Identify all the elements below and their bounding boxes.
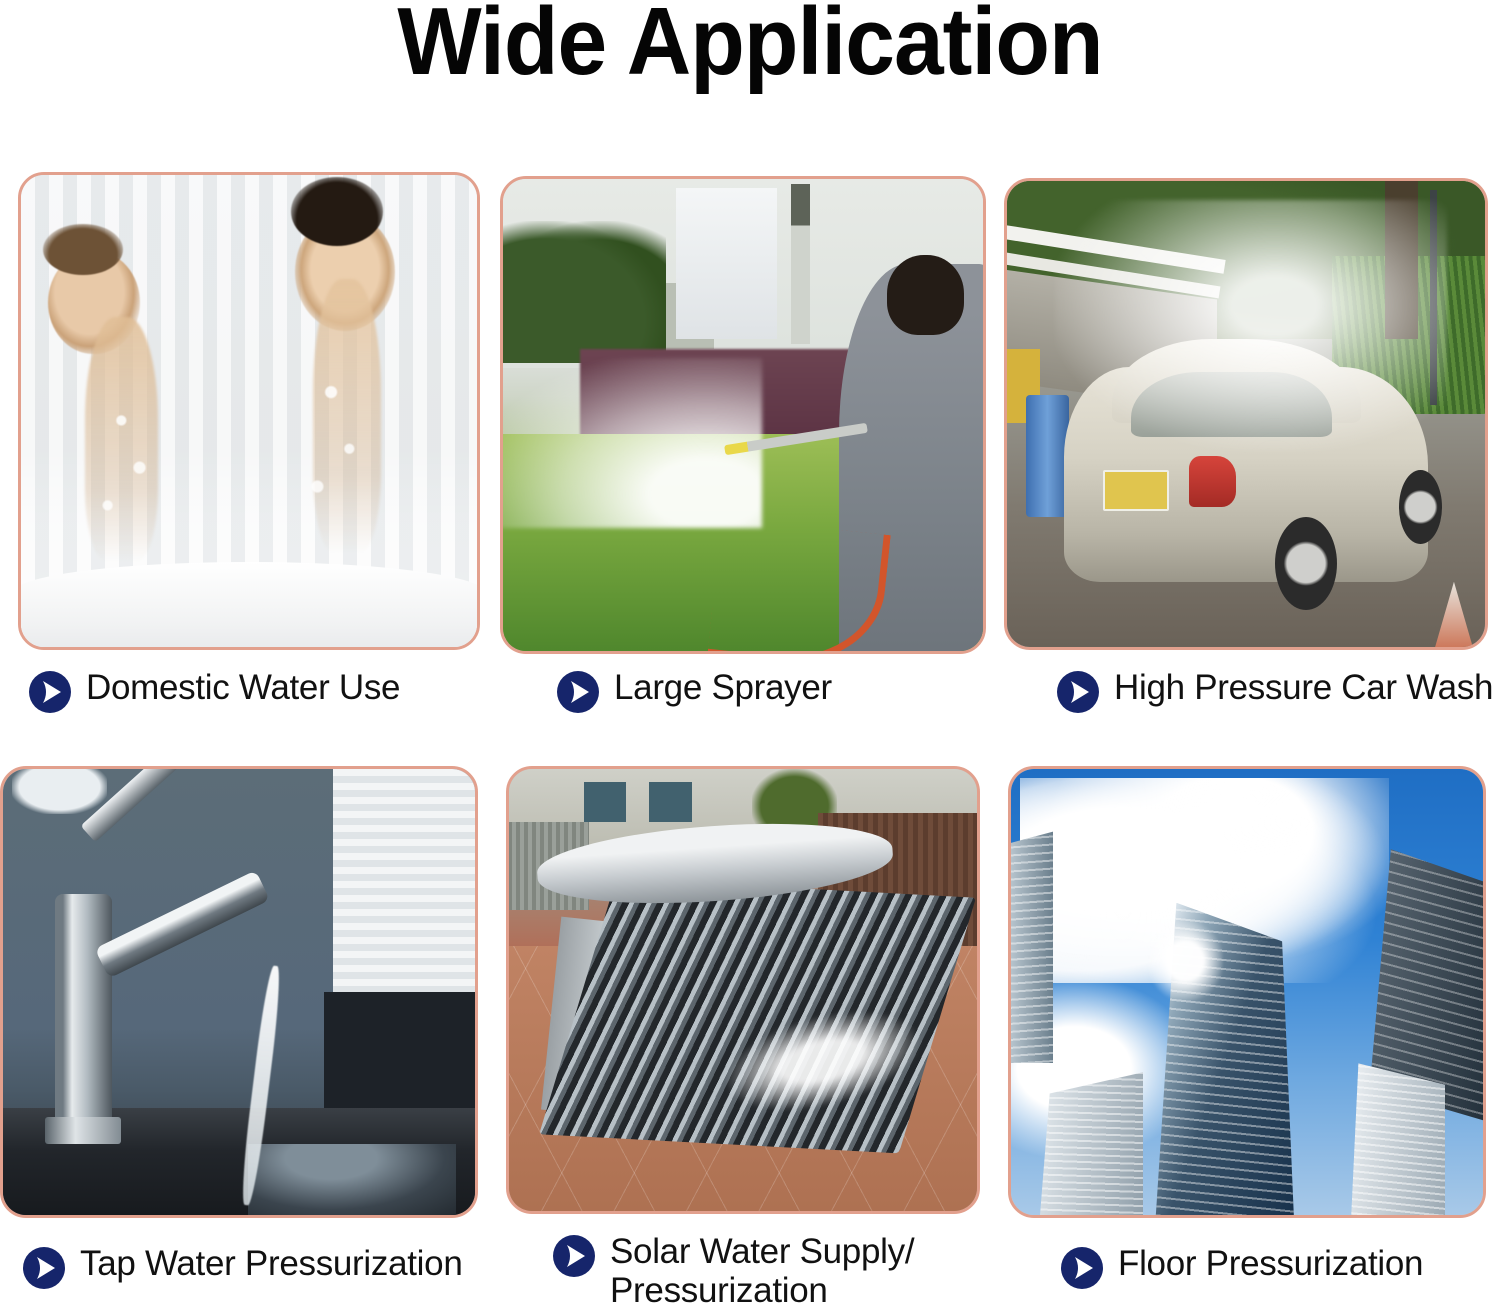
caption-domestic-water-use: Domestic Water Use xyxy=(28,668,400,714)
application-card-tap-water-pressurization[interactable] xyxy=(0,766,478,1218)
caption-label: Floor Pressurization xyxy=(1118,1244,1423,1283)
caption-label: Large Sprayer xyxy=(614,668,832,707)
play-arrow-icon xyxy=(1056,670,1100,714)
caption-label: Domestic Water Use xyxy=(86,668,400,707)
caption-floor-pressurization: Floor Pressurization xyxy=(1060,1244,1423,1290)
caption-solar-water-supply-pressurization: Solar Water Supply/ Pressurization xyxy=(552,1232,914,1310)
photo-floor-pressurization xyxy=(1011,769,1483,1215)
photo-tap-water-pressurization xyxy=(3,769,475,1215)
caption-label: High Pressure Car Wash xyxy=(1114,668,1493,707)
caption-tap-water-pressurization: Tap Water Pressurization xyxy=(22,1244,462,1290)
photo-high-pressure-car-wash xyxy=(1007,181,1485,647)
caption-label: Solar Water Supply/ Pressurization xyxy=(610,1232,914,1310)
play-arrow-icon xyxy=(1060,1246,1104,1290)
photo-frame xyxy=(506,766,980,1214)
application-card-large-sprayer[interactable] xyxy=(500,176,986,654)
play-arrow-icon xyxy=(556,670,600,714)
application-card-solar-water-supply-pressurization[interactable] xyxy=(506,766,980,1214)
photo-domestic-water-use xyxy=(21,175,477,647)
photo-frame xyxy=(1008,766,1486,1218)
application-card-domestic-water-use[interactable] xyxy=(18,172,480,650)
play-arrow-icon xyxy=(28,670,72,714)
play-arrow-icon xyxy=(552,1234,596,1278)
photo-solar-water-supply xyxy=(509,769,977,1211)
photo-frame xyxy=(0,766,478,1218)
photo-large-sprayer xyxy=(503,179,983,651)
application-card-high-pressure-car-wash[interactable] xyxy=(1004,178,1488,650)
application-card-floor-pressurization[interactable] xyxy=(1008,766,1486,1218)
photo-frame xyxy=(1004,178,1488,650)
caption-large-sprayer: Large Sprayer xyxy=(556,668,832,714)
photo-frame xyxy=(18,172,480,650)
application-grid: Domestic Water Use Large Sprayer xyxy=(0,0,1500,1315)
photo-frame xyxy=(500,176,986,654)
caption-high-pressure-car-wash: High Pressure Car Wash xyxy=(1056,668,1493,714)
play-arrow-icon xyxy=(22,1246,66,1290)
caption-label: Tap Water Pressurization xyxy=(80,1244,462,1283)
